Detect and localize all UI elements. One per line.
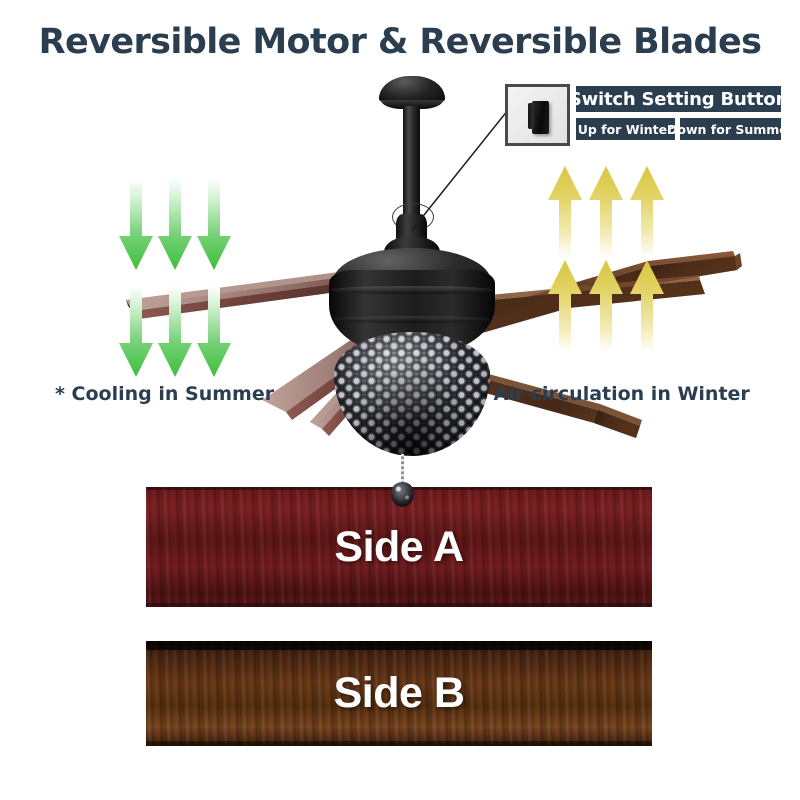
pull-chain-icon [401,454,404,484]
arrow-green-down-3 [197,178,231,270]
arrow-yellow-up-3 [630,166,664,258]
option-up-for-winter: Up for Winter [576,118,675,140]
arrow-yellow-up-2 [589,166,623,258]
rocker-toggle [532,101,549,134]
arrow-green-down-5 [158,285,192,377]
swatch-side-b: Side B [146,641,652,746]
bowl-shading [334,332,490,456]
page-title: Reversible Motor & Reversible Blades [0,22,800,62]
arrow-yellow-up-6 [630,260,664,352]
arrow-green-down-4 [119,285,153,377]
switch-setting-title: Switch Setting Button [576,86,781,112]
caption-air-circulation-in-winter: * Air circulation in Winter [477,383,750,405]
caption-cooling-in-summer: * Cooling in Summer [55,383,274,405]
arrow-yellow-up-4 [548,260,582,352]
arrow-yellow-up-1 [548,166,582,258]
crystal-finial-icon [391,482,414,507]
arrow-yellow-up-5 [589,260,623,352]
motor-band-lower [333,316,491,323]
swatch-b-label: Side B [334,669,465,718]
rocker-switch-icon [505,84,570,146]
crystal-bowl-shade-icon [334,332,490,456]
motor-band-upper [331,286,493,294]
arrow-green-down-2 [158,178,192,270]
swatch-a-label: Side A [334,523,463,572]
option-down-for-summer: Down for Summer [680,118,781,140]
arrow-green-down-1 [119,178,153,270]
arrow-green-down-6 [197,285,231,377]
